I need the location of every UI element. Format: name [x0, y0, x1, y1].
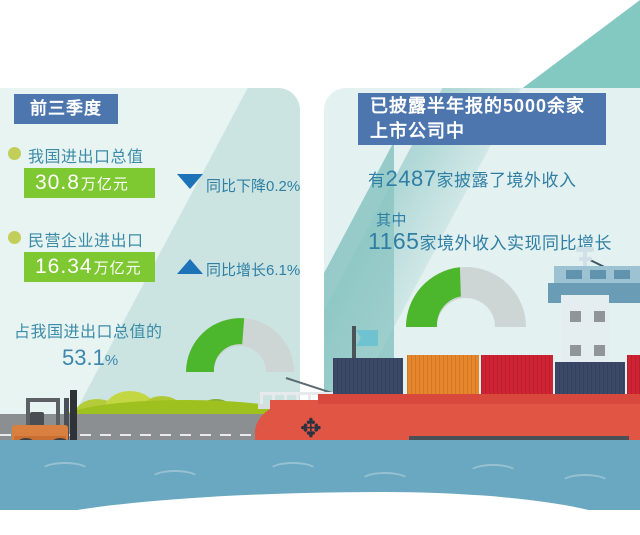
ship-bridge-window [614, 270, 630, 279]
container-navy [333, 358, 403, 396]
wave-line [560, 474, 610, 492]
ship-bridge-window [590, 270, 606, 279]
wave-line [360, 472, 410, 490]
right-line-1: 有2487家披露了境外收入 [368, 166, 576, 192]
forklift-seat [30, 412, 44, 426]
stat2-trend-up-icon [177, 259, 203, 274]
stat2-unit: 万亿元 [94, 257, 142, 278]
ship-porthole [570, 345, 581, 356]
ship-deck-line [318, 394, 640, 404]
wave-line [40, 462, 90, 480]
wave-line [468, 464, 518, 482]
right-badge-line-2: 上市公司中 [370, 119, 606, 144]
right-line3-number: 1165 [368, 228, 419, 254]
stat1-value-box: 30.8万亿元 [24, 168, 155, 198]
ship-anchor-icon: ✥ [300, 415, 326, 441]
stat2-label: 民营企业进出口 [28, 227, 144, 251]
left-section-title-badge: 前三季度 [14, 94, 118, 124]
stat2-bullet-icon [8, 231, 21, 244]
share-value-text: 53.1% [62, 345, 118, 371]
teal-corner-wedge [520, 0, 640, 90]
infographic-canvas: 前三季度 已披露半年报的5000余家 上市公司中 我国进出口总值 30.8万亿元… [0, 0, 640, 535]
right-line1-prefix: 有 [368, 171, 386, 190]
ship-mast-cap-lower [579, 257, 592, 261]
stat1-unit: 万亿元 [81, 173, 129, 194]
share-unit: % [105, 352, 118, 369]
stat1-delta-text: 同比下降0.2% [206, 175, 300, 196]
right-line-2: 其中 [376, 209, 407, 230]
dock-pole [352, 326, 356, 362]
stat2-delta-text: 同比增长6.1% [206, 259, 300, 280]
stat2-value-box: 16.34万亿元 [24, 252, 155, 282]
share-label: 占我国进出口总值的 [14, 318, 163, 342]
stat1-bullet-icon [8, 147, 21, 160]
share-value: 53.1 [62, 345, 105, 370]
gauge2-value-arc [406, 267, 461, 327]
right-section-title-badge: 已披露半年报的5000余家 上市公司中 [358, 93, 606, 145]
gauge-chart-export-share [178, 306, 302, 376]
container-red [481, 355, 553, 396]
wave-line [268, 462, 318, 480]
right-line1-suffix: 家披露了境外收入 [436, 171, 576, 190]
ship-porthole [594, 311, 605, 322]
gauge-chart-overseas-growth [398, 255, 534, 331]
ship-porthole [594, 345, 605, 356]
right-badge-line-1: 已披露半年报的5000余家 [370, 94, 606, 119]
container-orange [407, 355, 479, 396]
stat1-trend-down-icon [177, 174, 203, 189]
ship-porthole [570, 311, 581, 322]
stat2-value: 16.34 [35, 255, 93, 279]
wave-line [150, 470, 200, 488]
container-red [627, 355, 640, 396]
stat1-value: 30.8 [35, 171, 80, 195]
stat1-label: 我国进出口总值 [28, 143, 144, 167]
ship-bridge-window [566, 270, 582, 279]
right-line1-number: 2487 [386, 166, 437, 191]
